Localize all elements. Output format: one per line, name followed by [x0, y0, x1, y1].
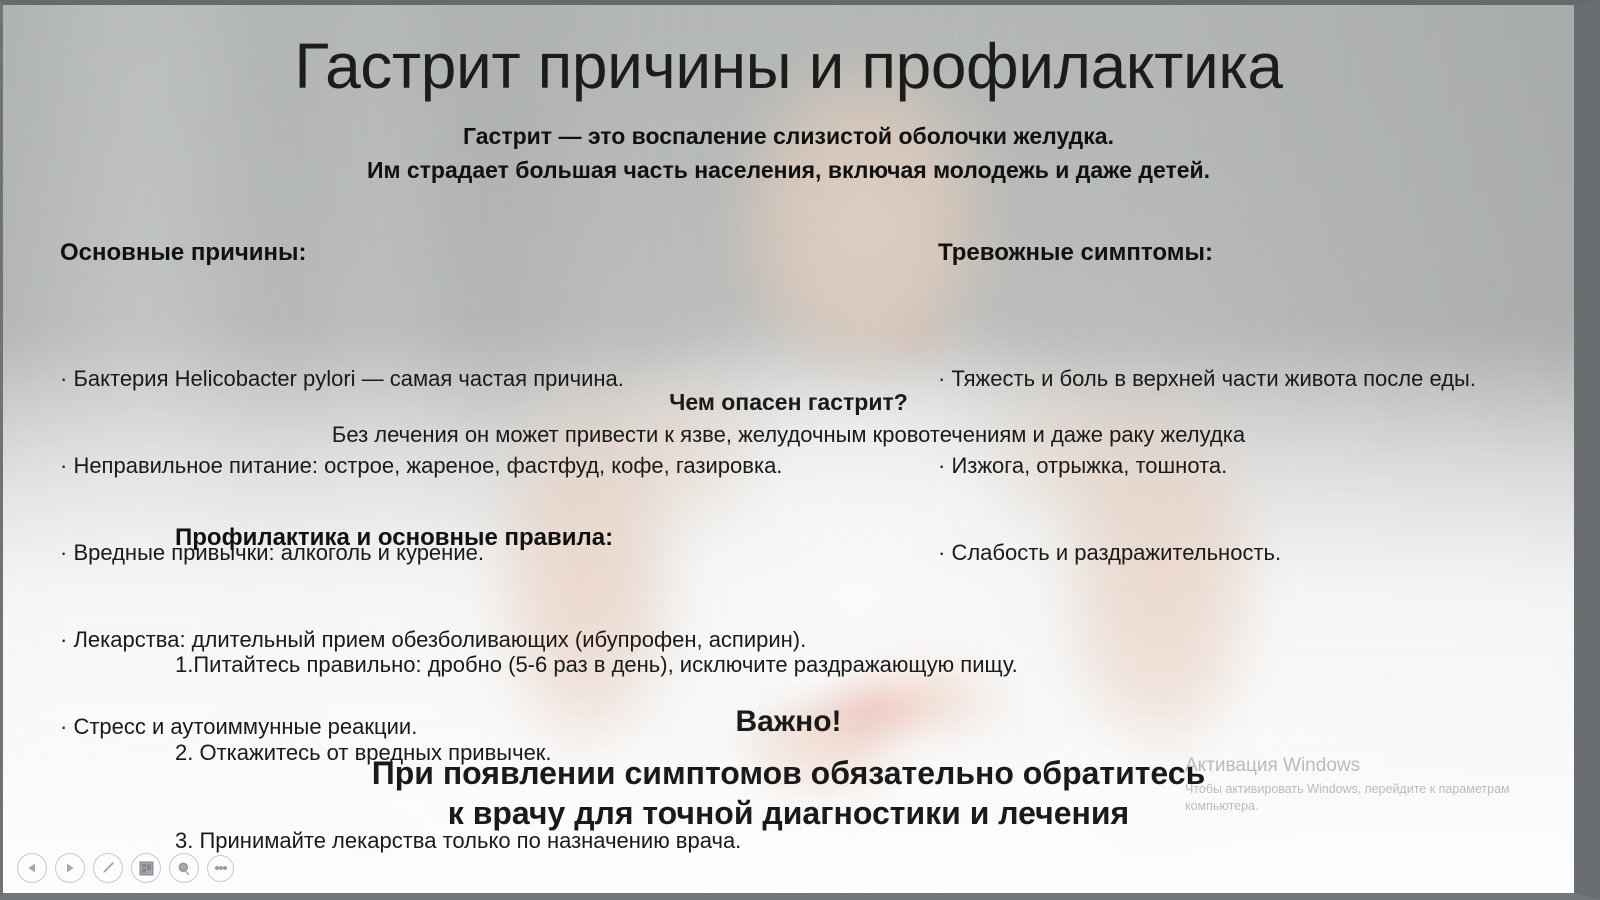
- pen-icon: [100, 860, 116, 876]
- prevention-heading: Профилактика и основные правила:: [175, 524, 1018, 552]
- previous-slide-button[interactable]: [17, 853, 47, 883]
- windows-activation-watermark: Активация Windows Чтобы активировать Win…: [1185, 753, 1515, 815]
- slideshow-toolbar: [13, 846, 238, 890]
- causes-heading: Основные причины:: [60, 239, 806, 267]
- previous-icon: [26, 862, 38, 874]
- more-options-button[interactable]: [207, 855, 234, 882]
- symptoms-list: · Тяжесть и боль в верхней части живота …: [938, 314, 1476, 627]
- slide-surface[interactable]: Гастрит причины и профилактика Гастрит —…: [3, 5, 1574, 893]
- zoom-button[interactable]: [169, 853, 199, 883]
- search-icon: [177, 861, 192, 876]
- intro-line-1: Гастрит — это воспаление слизистой оболо…: [3, 123, 1574, 150]
- symptoms-item: · Изжога, отрыжка, тошнота.: [938, 453, 1476, 479]
- intro-line-2: Им страдает большая часть населения, вкл…: [3, 157, 1574, 184]
- all-slides-button[interactable]: [131, 853, 161, 883]
- prevention-item: 1.Питайтесь правильно: дробно (5-6 раз в…: [175, 652, 1018, 678]
- next-slide-button[interactable]: [55, 853, 85, 883]
- prevention-block: Профилактика и основные правила: 1.Питай…: [175, 488, 1018, 893]
- causes-item: · Неправильное питание: острое, жареное,…: [60, 453, 806, 479]
- danger-text: Без лечения он может привести к язве, же…: [3, 422, 1574, 448]
- ellipsis-icon: [214, 865, 228, 871]
- symptoms-heading: Тревожные симптомы:: [938, 239, 1476, 267]
- presentation-window: Гастрит причины и профилактика Гастрит —…: [0, 0, 1600, 900]
- symptoms-item: · Слабость и раздражительность.: [938, 540, 1476, 566]
- grid-icon: [139, 861, 154, 876]
- pen-tool-button[interactable]: [93, 853, 123, 883]
- danger-heading: Чем опасен гастрит?: [3, 389, 1574, 416]
- activation-subtitle: Чтобы активировать Windows, перейдите к …: [1185, 781, 1515, 815]
- important-heading: Важно!: [3, 705, 1574, 739]
- prevention-list: 1.Питайтесь правильно: дробно (5-6 раз в…: [175, 600, 1018, 893]
- activation-title: Активация Windows: [1185, 753, 1515, 779]
- play-icon: [64, 862, 76, 874]
- slide-title: Гастрит причины и профилактика: [3, 29, 1574, 103]
